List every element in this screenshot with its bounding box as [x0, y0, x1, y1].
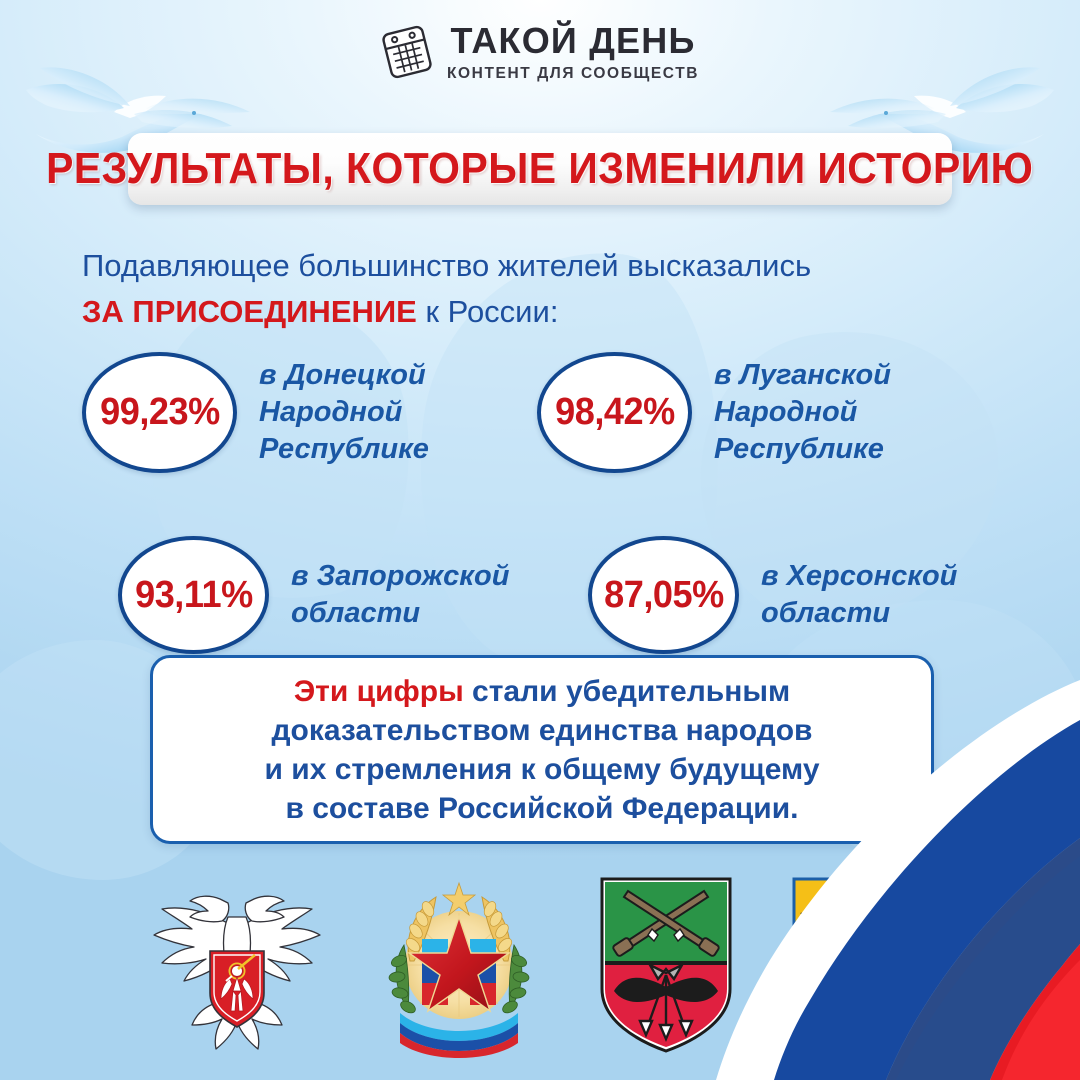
stat-value: 99,23%: [100, 391, 220, 434]
intro-emphasis: ЗА ПРИСОЕДИНЕНИЕ: [82, 294, 417, 329]
brand-title: ТАКОЙ ДЕНЬ: [450, 23, 695, 59]
zaporozhye-coat-of-arms: [586, 865, 746, 1060]
conclusion-emphasis: Эти цифры: [294, 675, 464, 708]
emblems-row: [0, 855, 1080, 1060]
stat-label-line: области: [761, 595, 957, 632]
stat-item-dnr: 99,23% в Донецкой Народной Республике: [82, 352, 537, 473]
stat-bubble: 98,42%: [537, 352, 692, 473]
stat-value: 93,11%: [135, 574, 253, 617]
calendar-icon: [381, 24, 433, 80]
conclusion-line-2: доказательством единства народов: [271, 714, 812, 747]
stat-label-line: в Луганской: [714, 357, 891, 394]
conclusion-box: Эти цифры стали убедительным доказательс…: [150, 655, 934, 844]
conclusion-line-1: стали убедительным: [464, 675, 790, 708]
stat-value: 87,05%: [604, 574, 724, 617]
lnr-coat-of-arms: [364, 865, 554, 1060]
intro-text: Подавляющее большинство жителей высказал…: [82, 245, 1002, 333]
intro-line-1: Подавляющее большинство жителей высказал…: [82, 245, 1002, 287]
stat-bubble: 99,23%: [82, 352, 237, 473]
page-title: РЕЗУЛЬТАТЫ, КОТОРЫЕ ИЗМЕНИЛИ ИСТОРИЮ: [46, 144, 1033, 194]
stat-item-lnr: 98,42% в Луганской Народной Республике: [537, 352, 992, 473]
stats-row: 99,23% в Донецкой Народной Республике 98…: [0, 352, 1080, 473]
infographic-poster: ТАКОЙ ДЕНЬ КОНТЕНТ ДЛЯ СООБЩЕСТВ РЕЗУЛЬТ…: [0, 0, 1080, 1080]
stat-label: в Луганской Народной Республике: [714, 357, 891, 468]
stat-bubble: 93,11%: [118, 536, 269, 654]
title-banner: РЕЗУЛЬТАТЫ, КОТОРЫЕ ИЗМЕНИЛИ ИСТОРИЮ: [128, 133, 952, 205]
intro-tail: к России:: [417, 294, 559, 329]
conclusion-line-3: и их стремления к общему будущему: [264, 753, 819, 786]
conclusion-text: Эти цифры стали убедительным доказательс…: [238, 672, 845, 828]
intro-line-2: ЗА ПРИСОЕДИНЕНИЕ к России:: [82, 291, 1002, 333]
stat-label-line: в Запорожской: [291, 558, 509, 595]
stat-label: в Донецкой Народной Республике: [259, 357, 429, 468]
stat-label-line: Народной: [714, 394, 891, 431]
brand-subtitle: КОНТЕНТ ДЛЯ СООБЩЕСТВ: [447, 66, 699, 82]
stat-label-line: Народной: [259, 394, 429, 431]
dnr-coat-of-arms: [142, 865, 332, 1060]
stat-label-line: области: [291, 595, 509, 632]
stat-label-line: Республике: [714, 431, 891, 468]
brand-logo: ТАКОЙ ДЕНЬ КОНТЕНТ ДЛЯ СООБЩЕСТВ: [0, 16, 1080, 88]
stat-label: в Запорожской области: [291, 558, 509, 632]
stat-bubble: 87,05%: [588, 536, 739, 654]
stats-section: 99,23% в Донецкой Народной Республике 98…: [0, 352, 1080, 654]
kherson-coat-of-arms: [778, 865, 938, 1060]
stat-label: в Херсонской области: [761, 558, 957, 632]
stat-item-zaporozhye: 93,11% в Запорожской области: [118, 536, 588, 654]
stat-label-line: в Херсонской: [761, 558, 957, 595]
stats-row: 93,11% в Запорожской области 87,05% в Хе…: [0, 536, 1080, 654]
stat-item-kherson: 87,05% в Херсонской области: [588, 536, 1028, 654]
stat-value: 98,42%: [555, 391, 675, 434]
stat-label-line: в Донецкой: [259, 357, 429, 394]
conclusion-line-4: в составе Российской Федерации.: [285, 792, 798, 825]
stat-label-line: Республике: [259, 431, 429, 468]
